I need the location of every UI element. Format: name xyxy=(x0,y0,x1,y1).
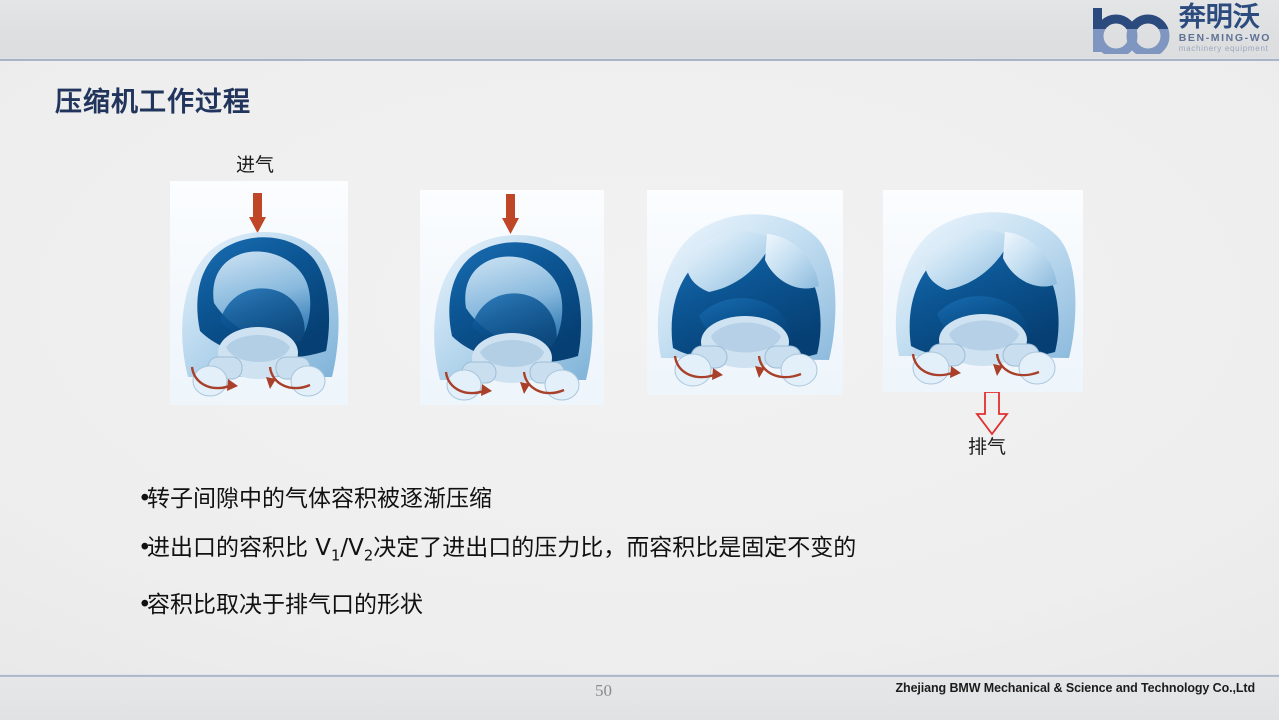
intake-arrow-1 xyxy=(249,193,266,233)
bullet-dot-icon: • xyxy=(138,524,147,573)
bullet-dot-icon: • xyxy=(138,581,147,630)
footer-company-name: Zhejiang BMW Mechanical & Science and Te… xyxy=(896,681,1256,695)
bullet-text-2-pre: 进出口的容积比 V xyxy=(147,535,331,561)
logo-chinese-name: 奔明沃 xyxy=(1179,4,1260,31)
exhaust-label: 排气 xyxy=(968,432,1006,459)
intake-label: 进气 xyxy=(236,150,274,177)
bullet-text-2-mid: /V xyxy=(340,535,363,561)
bullet-item-1: •转子间隙中的气体容积被逐渐压缩 xyxy=(138,475,1138,524)
rotor-stage-3 xyxy=(647,190,843,395)
bullet-dot-icon: • xyxy=(138,475,147,524)
rotor-stage-1 xyxy=(170,181,348,405)
page-title: 压缩机工作过程 xyxy=(55,80,251,119)
bullet-text-2-post: 决定了进出口的压力比，而容积比是固定不变的 xyxy=(373,535,856,561)
bullet-text-2-sub2: 2 xyxy=(364,548,373,565)
bullet-item-3: •容积比取决于排气口的形状 xyxy=(138,581,1138,630)
logo-english-name: BEN-MING-WO xyxy=(1179,33,1271,44)
rotor-stage-2 xyxy=(420,190,604,405)
bullet-text-3: 容积比取决于排气口的形状 xyxy=(147,592,423,618)
company-logo: 奔明沃 BEN-MING-WO machinery equipment xyxy=(1053,2,1271,57)
logo-tagline: machinery equipment xyxy=(1179,45,1269,53)
rotor-stage-4 xyxy=(883,190,1083,392)
bullet-item-2: •进出口的容积比 V1/V2决定了进出口的压力比，而容积比是固定不变的 xyxy=(138,524,1138,581)
bullet-text-1: 转子间隙中的气体容积被逐渐压缩 xyxy=(147,486,492,512)
header-divider xyxy=(0,58,1279,61)
slide-canvas: 奔明沃 BEN-MING-WO machinery equipment 压缩机工… xyxy=(0,0,1279,720)
intake-arrow-2 xyxy=(502,194,519,234)
bo-logo-icon xyxy=(1089,6,1173,54)
bullet-list: •转子间隙中的气体容积被逐渐压缩 •进出口的容积比 V1/V2决定了进出口的压力… xyxy=(138,475,1138,630)
page-number: 50 xyxy=(595,681,612,701)
exhaust-arrow xyxy=(972,392,1012,436)
logo-wordmark: 奔明沃 BEN-MING-WO machinery equipment xyxy=(1179,4,1271,56)
